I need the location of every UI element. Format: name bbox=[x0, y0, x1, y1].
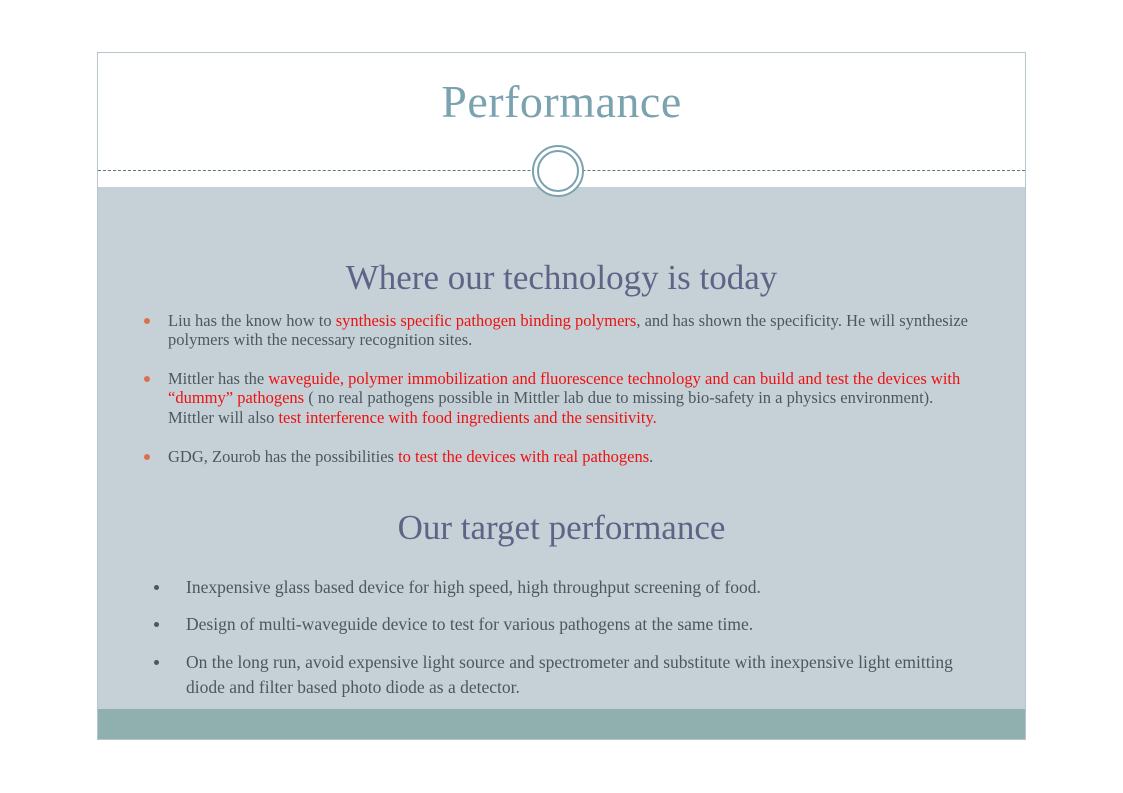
bullet-dot-icon bbox=[154, 585, 159, 590]
list-item-text: GDG, Zourob has the possibilities to tes… bbox=[168, 447, 653, 466]
list-item-text: Inexpensive glass based device for high … bbox=[186, 577, 761, 597]
list-item-text: Liu has the know how to synthesis specif… bbox=[168, 311, 968, 349]
list-item: GDG, Zourob has the possibilities to tes… bbox=[138, 447, 983, 466]
list-item: Inexpensive glass based device for high … bbox=[144, 575, 994, 600]
text-run: GDG, Zourob has the possibilities bbox=[168, 447, 398, 466]
list-item: Mittler has the waveguide, polymer immob… bbox=[138, 369, 983, 426]
highlighted-text-run: to test the devices with real pathogens bbox=[398, 447, 649, 466]
list-item: Design of multi-waveguide device to test… bbox=[144, 612, 994, 637]
circle-ornament-icon bbox=[532, 145, 584, 197]
text-run: Mittler has the bbox=[168, 369, 268, 388]
list-item-text: On the long run, avoid expensive light s… bbox=[186, 652, 953, 697]
highlighted-text-run: synthesis specific pathogen binding poly… bbox=[336, 311, 637, 330]
text-run: Design of multi-waveguide device to test… bbox=[186, 614, 753, 634]
list-item-text: Mittler has the waveguide, polymer immob… bbox=[168, 369, 960, 426]
section-heading-today: Where our technology is today bbox=[98, 259, 1025, 298]
bullet-dot-icon bbox=[154, 622, 159, 627]
slide-title: Performance bbox=[98, 79, 1025, 125]
section-heading-target: Our target performance bbox=[98, 509, 1025, 548]
slide-body-panel: Where our technology is today Liu has th… bbox=[98, 187, 1025, 709]
slide-bottom-accent-bar bbox=[98, 709, 1025, 739]
today-bullet-list: Liu has the know how to synthesis specif… bbox=[138, 311, 983, 486]
slide-canvas: Performance Where our technology is toda… bbox=[97, 52, 1026, 740]
text-run: Liu has the know how to bbox=[168, 311, 336, 330]
list-item: On the long run, avoid expensive light s… bbox=[144, 650, 994, 701]
list-item-text: Design of multi-waveguide device to test… bbox=[186, 614, 753, 634]
list-item: Liu has the know how to synthesis specif… bbox=[138, 311, 983, 349]
bullet-dot-icon bbox=[144, 454, 150, 460]
bullet-dot-icon bbox=[144, 318, 150, 324]
text-run: . bbox=[649, 447, 653, 466]
text-run: On the long run, avoid expensive light s… bbox=[186, 652, 953, 697]
bullet-dot-icon bbox=[144, 376, 150, 382]
highlighted-text-run: test interference with food ingredients … bbox=[278, 408, 656, 427]
target-bullet-list: Inexpensive glass based device for high … bbox=[144, 575, 994, 713]
text-run: Inexpensive glass based device for high … bbox=[186, 577, 761, 597]
bullet-dot-icon bbox=[154, 660, 159, 665]
